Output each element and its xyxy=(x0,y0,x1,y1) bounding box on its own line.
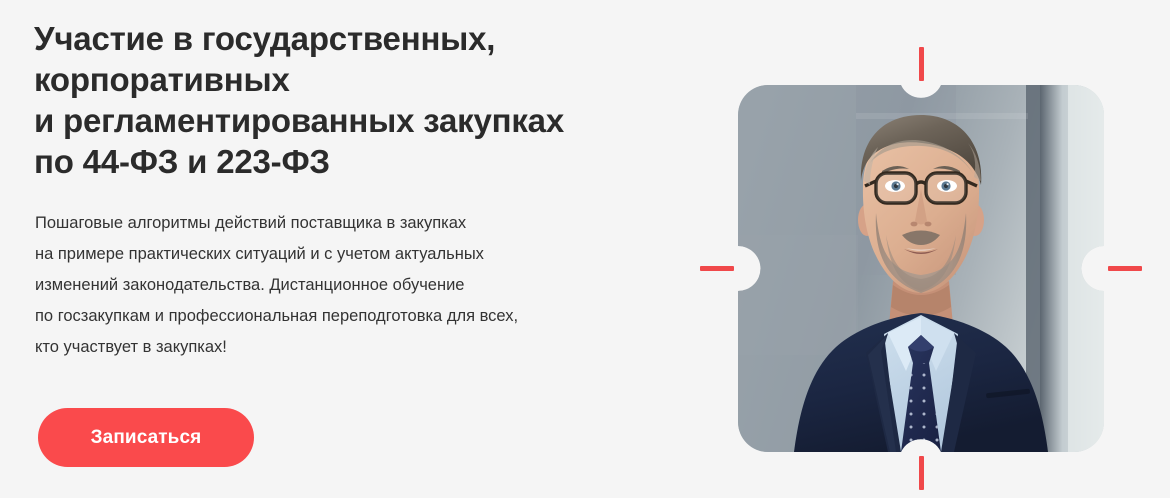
tick-right-icon xyxy=(1108,266,1142,271)
hero-banner: Участие в государственных, корпоративных… xyxy=(0,0,1170,498)
page-title: Участие в государственных, корпоративных… xyxy=(34,18,634,182)
tick-left-icon xyxy=(700,266,734,271)
hero-text-column: Участие в государственных, корпоративных… xyxy=(34,0,654,498)
signup-button[interactable]: Записаться xyxy=(38,408,254,467)
tick-bottom-icon xyxy=(919,456,924,490)
hero-photo xyxy=(738,85,1104,452)
portrait-illustration xyxy=(738,85,1104,452)
hero-description: Пошаговые алгоритмы действий поставщика … xyxy=(35,208,635,363)
tick-top-icon xyxy=(919,47,924,81)
